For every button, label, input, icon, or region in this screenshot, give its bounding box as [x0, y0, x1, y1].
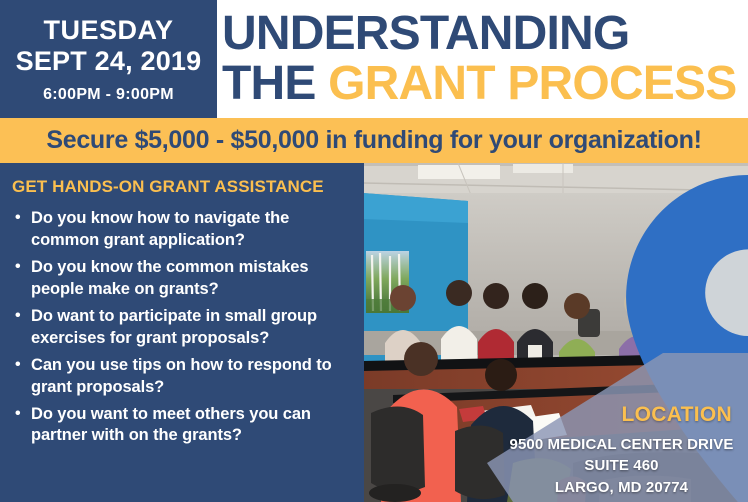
title-line-2-highlight: GRANT PROCESS [328, 57, 736, 110]
page-title: UNDERSTANDING THE GRANT PROCESS [222, 0, 748, 118]
address-line-2: SUITE 460 [363, 455, 740, 476]
location-label: LOCATION [622, 403, 733, 427]
header-band: TUESDAY SEPT 24, 2019 6:00PM - 9:00PM UN… [0, 0, 748, 118]
details-panel-heading: GET HANDS-ON GRANT ASSISTANCE [12, 177, 352, 197]
question-list: Do you know how to navigate the common g… [12, 208, 352, 447]
details-panel: GET HANDS-ON GRANT ASSISTANCE Do you kno… [0, 163, 364, 502]
title-line-1: UNDERSTANDING [222, 10, 748, 58]
event-date: SEPT 24, 2019 [16, 46, 202, 76]
list-item: Do you want to meet others you can partn… [12, 404, 352, 448]
location-address: 9500 MEDICAL CENTER DRIVE SUITE 460 LARG… [363, 434, 740, 498]
title-line-2: THE GRANT PROCESS [222, 60, 748, 108]
funding-banner: Secure $5,000 - $50,000 in funding for y… [0, 118, 748, 163]
list-item: Can you use tips on how to respond to gr… [12, 355, 352, 399]
flyer-poster: TUESDAY SEPT 24, 2019 6:00PM - 9:00PM UN… [0, 0, 748, 502]
list-item: Do want to participate in small group ex… [12, 306, 352, 350]
event-day: TUESDAY [43, 16, 173, 44]
funding-banner-text: Secure $5,000 - $50,000 in funding for y… [46, 126, 701, 155]
event-time: 6:00PM - 9:00PM [43, 86, 174, 104]
list-item: Do you know how to navigate the common g… [12, 208, 352, 252]
event-date-box: TUESDAY SEPT 24, 2019 6:00PM - 9:00PM [0, 0, 217, 118]
address-line-3: LARGO, MD 20774 [363, 477, 740, 498]
title-line-2-prefix: THE [222, 57, 328, 110]
address-line-1: 9500 MEDICAL CENTER DRIVE [363, 434, 740, 455]
location-block: LOCATION 9500 MEDICAL CENTER DRIVE SUITE… [363, 163, 748, 502]
list-item: Do you know the common mistakes people m… [12, 257, 352, 301]
